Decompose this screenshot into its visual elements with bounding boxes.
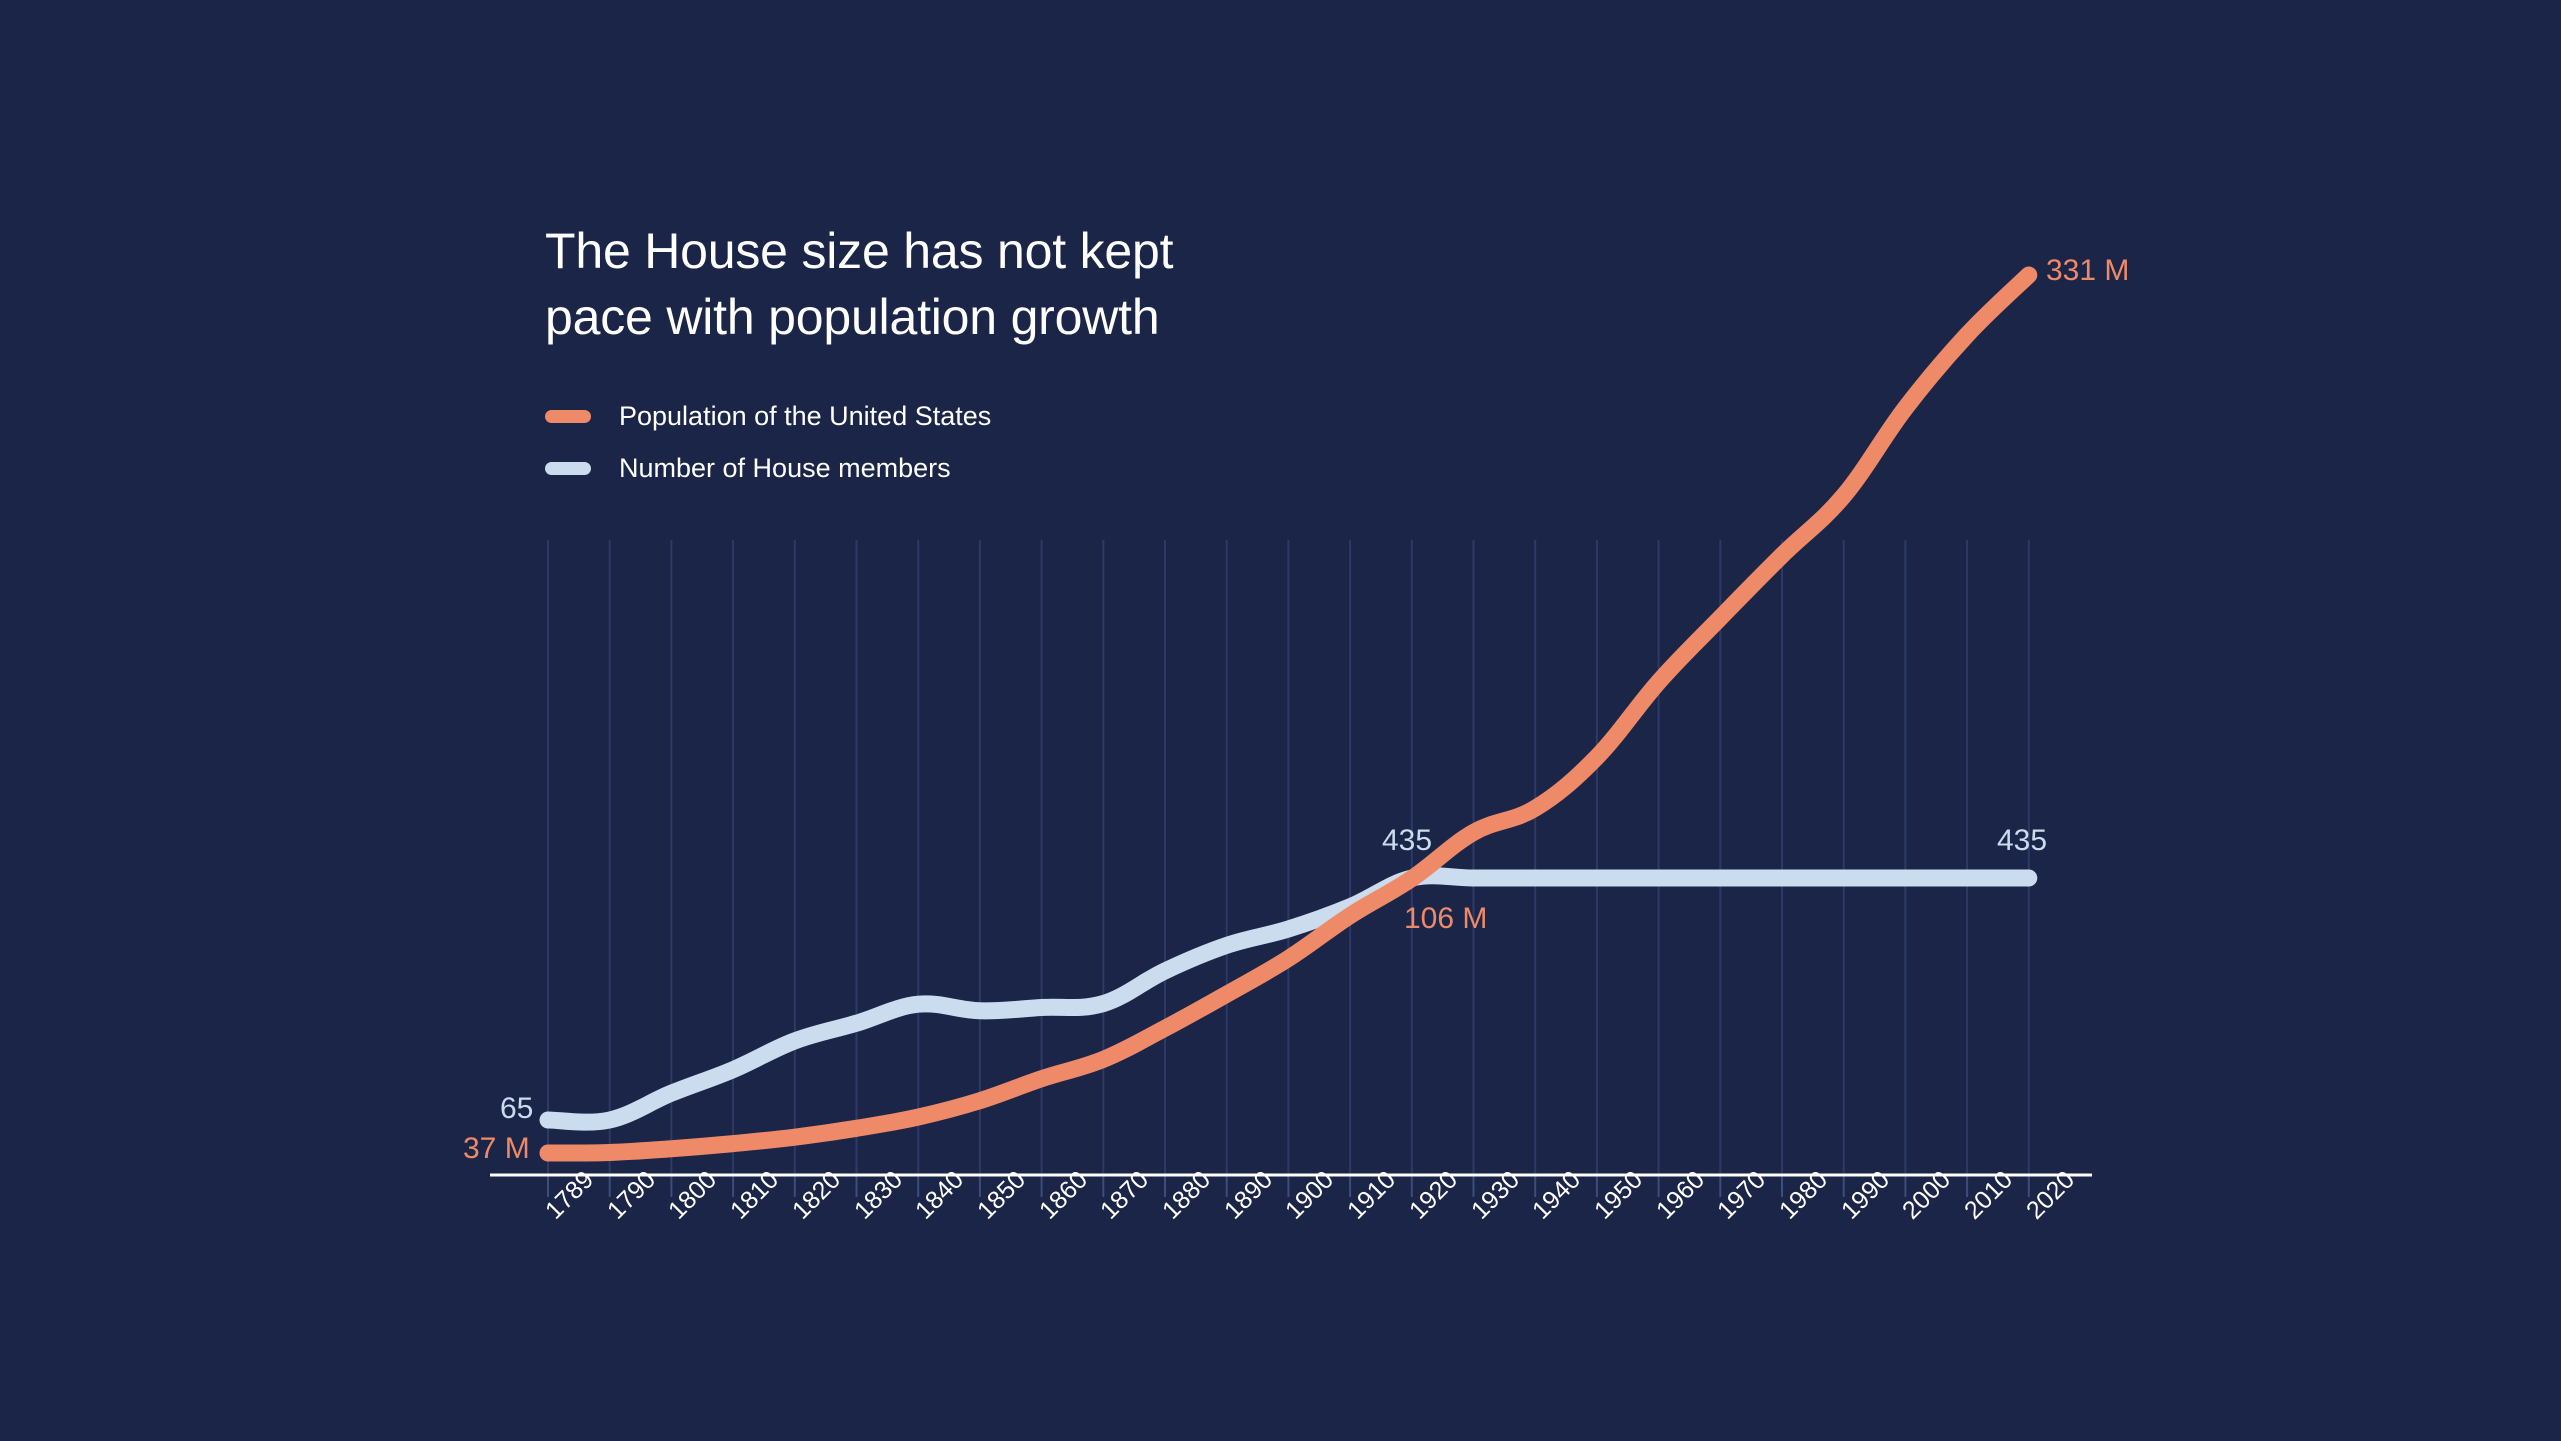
house-cap-value: 435: [1382, 824, 1432, 858]
gridlines-group: [548, 540, 2029, 1175]
house-end-value: 435: [1997, 824, 2047, 858]
plot-area: [0, 0, 2561, 1441]
population-start-value: 37 M: [463, 1132, 530, 1166]
population-crossover-value: 106 M: [1404, 902, 1487, 936]
chart-canvas: The House size has not kept pace with po…: [0, 0, 2561, 1441]
population-end-value: 331 M: [2046, 254, 2129, 288]
house-start-value: 65: [500, 1092, 533, 1126]
